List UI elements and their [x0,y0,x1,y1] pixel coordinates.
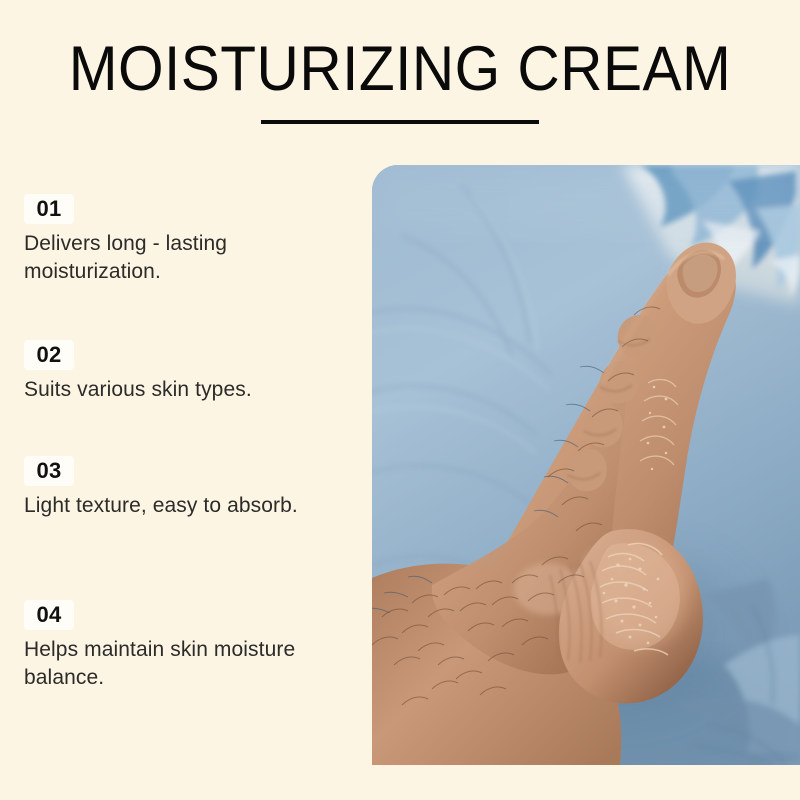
feature-item-03: 03 Light texture, easy to absorb. [24,456,354,520]
feature-text-03: Light texture, easy to absorb. [24,492,354,520]
feature-text-02: Suits various skin types. [24,376,354,404]
header: MOISTURIZING CREAM [0,0,800,124]
feature-number-badge-01: 01 [24,194,74,224]
feature-number-badge-02: 02 [24,340,74,370]
feature-item-04: 04 Helps maintain skin moisture balance. [24,600,354,692]
feature-item-01: 01 Delivers long - lasting moisturizatio… [24,194,354,286]
feature-text-04: Helps maintain skin moisture balance. [24,636,354,692]
foot-on-bedsheet-illustration [372,165,800,765]
feature-item-02: 02 Suits various skin types. [24,340,354,404]
title-underline [261,120,539,124]
feature-number-badge-03: 03 [24,456,74,486]
feature-text-01: Delivers long - lasting moisturization. [24,230,354,286]
product-photo [372,165,800,765]
feature-number-badge-04: 04 [24,600,74,630]
page-title: MOISTURIZING CREAM [28,38,772,101]
